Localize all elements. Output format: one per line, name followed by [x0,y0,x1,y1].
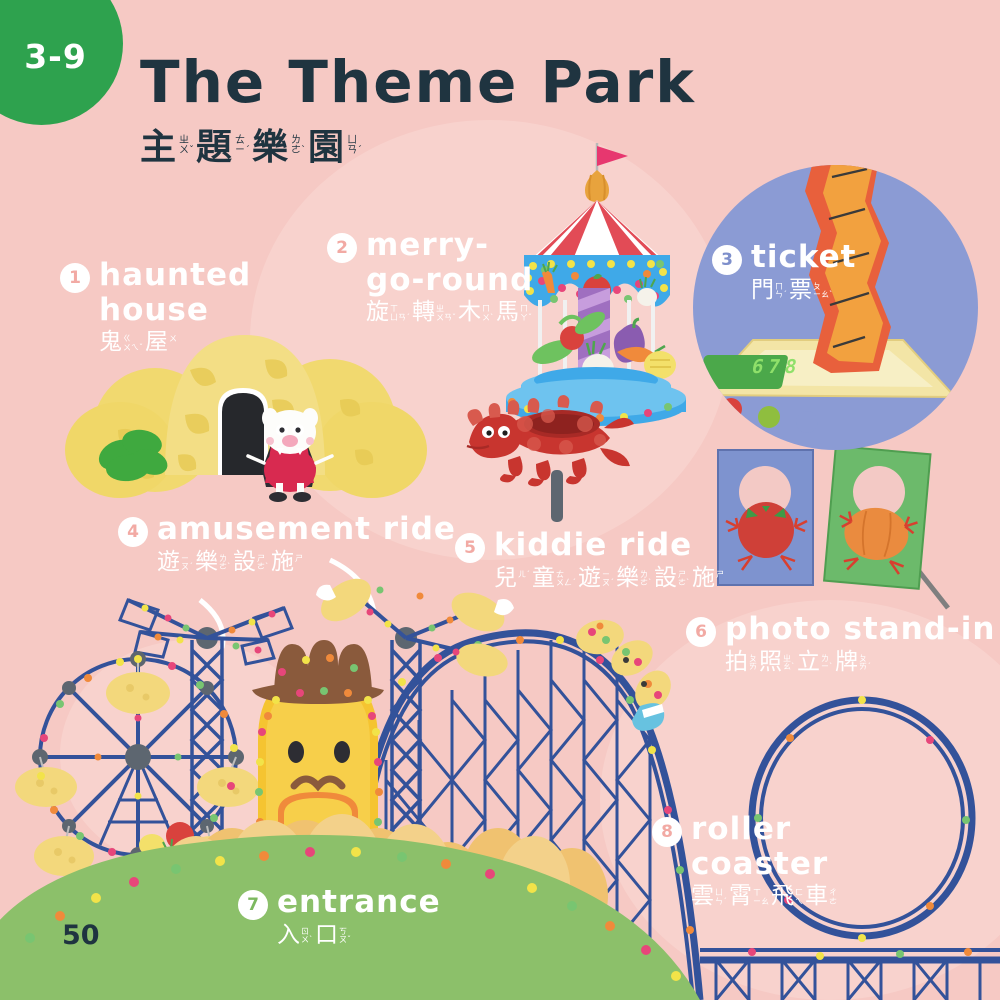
label-number-5: 5 [455,533,485,563]
label-number-7: 7 [238,890,268,920]
han-character: 施 [692,567,715,590]
label-english-2: merry- go-round [366,228,534,297]
chinese-character: 拍ㄆㄞ [725,651,757,674]
chinese-character: 雲ㄩㄣˊ [691,885,727,908]
han-character: 樂 [252,130,290,166]
bopomofo-annotation: ㄒㄩㄢˊ [390,305,410,322]
label-chinese-4: 遊ㄧㄡˊ樂ㄌㄜˋ設ㄕㄜˋ施ㄕ [157,551,456,574]
page-number: 50 [62,920,100,951]
han-character: 立 [797,651,820,674]
han-character: 樂 [616,567,639,590]
chinese-character: 樂ㄌㄜˋ [252,130,306,166]
bopomofo-annotation: ㄩㄣˊ [715,889,727,906]
label-number-3: 3 [712,245,742,275]
bopomofo-annotation: ㄎㄡˇ [339,928,351,945]
han-character: 設 [654,567,677,590]
label-roller-coaster: 8 roller coaster 雲ㄩㄣˊ霄ㄒㄧㄠ飛ㄈㄟ車ㄔㄜ [652,812,839,908]
chinese-character: 遊ㄧㄡˊ [578,567,614,590]
han-character: 門 [751,279,774,302]
coaster-cars [573,616,678,731]
chinese-character: 屋ㄨ [145,331,177,354]
label-english-4: amusement ride [157,512,456,547]
han-character: 木 [458,301,481,324]
chinese-character: 馬ㄇㄚˇ [496,301,532,324]
bopomofo-annotation: ㄓㄨˇ [179,136,194,156]
chinese-character: 車ㄔㄜ [805,885,837,908]
label-english-3: ticket [751,240,856,275]
han-character: 樂 [195,551,218,574]
bopomofo-annotation: ㄨ [169,335,177,343]
chinese-character: 票ㄆㄧㄠˋ [789,279,833,302]
ticket-machine-display: 678 [750,356,804,378]
bopomofo-annotation: ㄊㄧˊ [235,136,250,156]
label-kiddie-ride: 5 kiddie ride 兒ㄦˊ童ㄊㄨㄥˊ遊ㄧㄡˊ樂ㄌㄜˋ設ㄕㄜˋ施ㄕ [455,528,726,590]
han-character: 施 [271,551,294,574]
chapter-badge-label: 3-9 [24,37,87,76]
bopomofo-annotation: ㄈㄟ [795,889,803,906]
label-chinese-6: 拍ㄆㄞ照ㄓㄠˋ立ㄌㄧˋ牌ㄆㄞˊ [725,651,995,674]
chinese-character: 兒ㄦˊ [494,567,530,590]
bopomofo-annotation: ㄕ [716,571,724,579]
chinese-character: 童ㄊㄨㄥˊ [532,567,576,590]
bopomofo-annotation: ㄓㄠˋ [783,655,795,672]
chinese-character: 飛ㄈㄟ [771,885,803,908]
label-amusement-ride: 4 amusement ride 遊ㄧㄡˊ樂ㄌㄜˋ設ㄕㄜˋ施ㄕ [118,512,456,574]
chinese-character: 木ㄇㄨˋ [458,301,494,324]
han-character: 轉 [412,301,435,324]
bopomofo-annotation: ㄩㄢˊ [347,136,362,156]
label-entrance: 7 entrance 入ㄖㄨˋ口ㄎㄡˇ [238,885,441,947]
han-character: 兒 [494,567,517,590]
bopomofo-annotation: ㄧㄡˊ [181,555,193,572]
label-chinese-3: 門ㄇㄣˊ票ㄆㄧㄠˋ [751,279,856,302]
label-english-5: kiddie ride [494,528,726,563]
han-character: 鬼 [99,331,122,354]
han-character: 雲 [691,885,714,908]
label-english-1: haunted house [99,258,251,327]
label-number-2: 2 [327,233,357,263]
ticket-illustration: 678 [693,165,978,450]
picture-book-page: 678 3-9 The Theme Park 主ㄓㄨˇ題ㄊㄧˊ樂ㄌㄜˋ園ㄩㄢˊ … [0,0,1000,1000]
chinese-character: 鬼ㄍㄨㄟˇ [99,331,143,354]
chinese-character: 施ㄕ [692,567,724,590]
bopomofo-annotation: ㄌㄜˋ [219,555,231,572]
bopomofo-annotation: ㄊㄨㄥˊ [556,571,576,588]
han-character: 照 [759,651,782,674]
han-character: 遊 [157,551,180,574]
chinese-character: 樂ㄌㄜˋ [195,551,231,574]
bopomofo-annotation: ㄍㄨㄟˇ [123,335,143,352]
chinese-character: 立ㄌㄧˋ [797,651,833,674]
han-character: 牌 [835,651,858,674]
chinese-character: 門ㄇㄣˊ [751,279,787,302]
label-chinese-2: 旋ㄒㄩㄢˊ轉ㄓㄨㄢˇ木ㄇㄨˋ馬ㄇㄚˇ [366,301,534,324]
han-character: 園 [308,130,346,166]
bopomofo-annotation: ㄓㄨㄢˇ [436,305,456,322]
chinese-character: 照ㄓㄠˋ [759,651,795,674]
label-chinese-8: 雲ㄩㄣˊ霄ㄒㄧㄠ飛ㄈㄟ車ㄔㄜ [691,885,839,908]
label-chinese-1: 鬼ㄍㄨㄟˇ屋ㄨ [99,331,251,354]
label-english-8: roller coaster [691,812,839,881]
chinese-character: 主ㄓㄨˇ [140,130,194,166]
han-character: 主 [140,130,178,166]
han-character: 旋 [366,301,389,324]
chinese-character: 園ㄩㄢˊ [308,130,362,166]
chinese-character: 設ㄕㄜˋ [233,551,269,574]
han-character: 飛 [771,885,794,908]
label-merry-go-round: 2 merry- go-round 旋ㄒㄩㄢˊ轉ㄓㄨㄢˇ木ㄇㄨˋ馬ㄇㄚˇ [327,228,534,324]
chinese-character: 旋ㄒㄩㄢˊ [366,301,410,324]
han-character: 馬 [496,301,519,324]
label-number-6: 6 [686,617,716,647]
label-number-1: 1 [60,263,90,293]
chinese-character: 設ㄕㄜˋ [654,567,690,590]
han-character: 霄 [729,885,752,908]
bopomofo-annotation: ㄕㄜˋ [678,571,690,588]
bopomofo-annotation: ㄕ [295,555,303,563]
chinese-character: 轉ㄓㄨㄢˇ [412,301,456,324]
chinese-character: 入ㄖㄨˋ [277,924,313,947]
bopomofo-annotation: ㄇㄨˋ [482,305,494,322]
bopomofo-annotation: ㄔㄜ [829,889,837,906]
chinese-character: 牌ㄆㄞˊ [835,651,871,674]
haunted-house-illustration [65,335,427,502]
bopomofo-annotation: ㄖㄨˋ [301,928,313,945]
label-english-6: photo stand-in [725,612,995,647]
han-character: 拍 [725,651,748,674]
photo-stand-in-illustration [718,446,948,608]
label-english-7: entrance [277,885,441,920]
bopomofo-annotation: ㄌㄜˋ [291,136,306,156]
chinese-character: 樂ㄌㄜˋ [616,567,652,590]
page-title-english: The Theme Park [140,48,696,116]
han-character: 題 [196,130,234,166]
han-character: 入 [277,924,300,947]
chinese-character: 遊ㄧㄡˊ [157,551,193,574]
bopomofo-annotation: ㄌㄧˋ [821,655,833,672]
han-character: 設 [233,551,256,574]
bopomofo-annotation: ㄒㄧㄠ [753,889,769,906]
bopomofo-annotation: ㄇㄚˇ [520,305,532,322]
bopomofo-annotation: ㄌㄜˋ [640,571,652,588]
label-number-4: 4 [118,517,148,547]
label-chinese-5: 兒ㄦˊ童ㄊㄨㄥˊ遊ㄧㄡˊ樂ㄌㄜˋ設ㄕㄜˋ施ㄕ [494,567,726,590]
bopomofo-annotation: ㄇㄣˊ [775,283,787,300]
label-number-8: 8 [652,817,682,847]
page-title-chinese: 主ㄓㄨˇ題ㄊㄧˊ樂ㄌㄜˋ園ㄩㄢˊ [140,130,364,166]
bopomofo-annotation: ㄆㄞ [749,655,757,672]
chinese-character: 題ㄊㄧˊ [196,130,250,166]
bopomofo-annotation: ㄦˊ [518,571,530,579]
han-character: 票 [789,279,812,302]
label-ticket: 3 ticket 門ㄇㄣˊ票ㄆㄧㄠˋ [712,240,856,302]
han-character: 口 [315,924,338,947]
bopomofo-annotation: ㄆㄧㄠˋ [813,283,833,300]
han-character: 遊 [578,567,601,590]
label-haunted-house: 1 haunted house 鬼ㄍㄨㄟˇ屋ㄨ [60,258,251,354]
label-photo-stand-in: 6 photo stand-in 拍ㄆㄞ照ㄓㄠˋ立ㄌㄧˋ牌ㄆㄞˊ [686,612,995,674]
han-character: 車 [805,885,828,908]
bopomofo-annotation: ㄧㄡˊ [602,571,614,588]
han-character: 童 [532,567,555,590]
han-character: 屋 [145,331,168,354]
label-chinese-7: 入ㄖㄨˋ口ㄎㄡˇ [277,924,441,947]
bopomofo-annotation: ㄕㄜˋ [257,555,269,572]
chinese-character: 施ㄕ [271,551,303,574]
chinese-character: 口ㄎㄡˇ [315,924,351,947]
chinese-character: 霄ㄒㄧㄠ [729,885,769,908]
bopomofo-annotation: ㄆㄞˊ [859,655,871,672]
